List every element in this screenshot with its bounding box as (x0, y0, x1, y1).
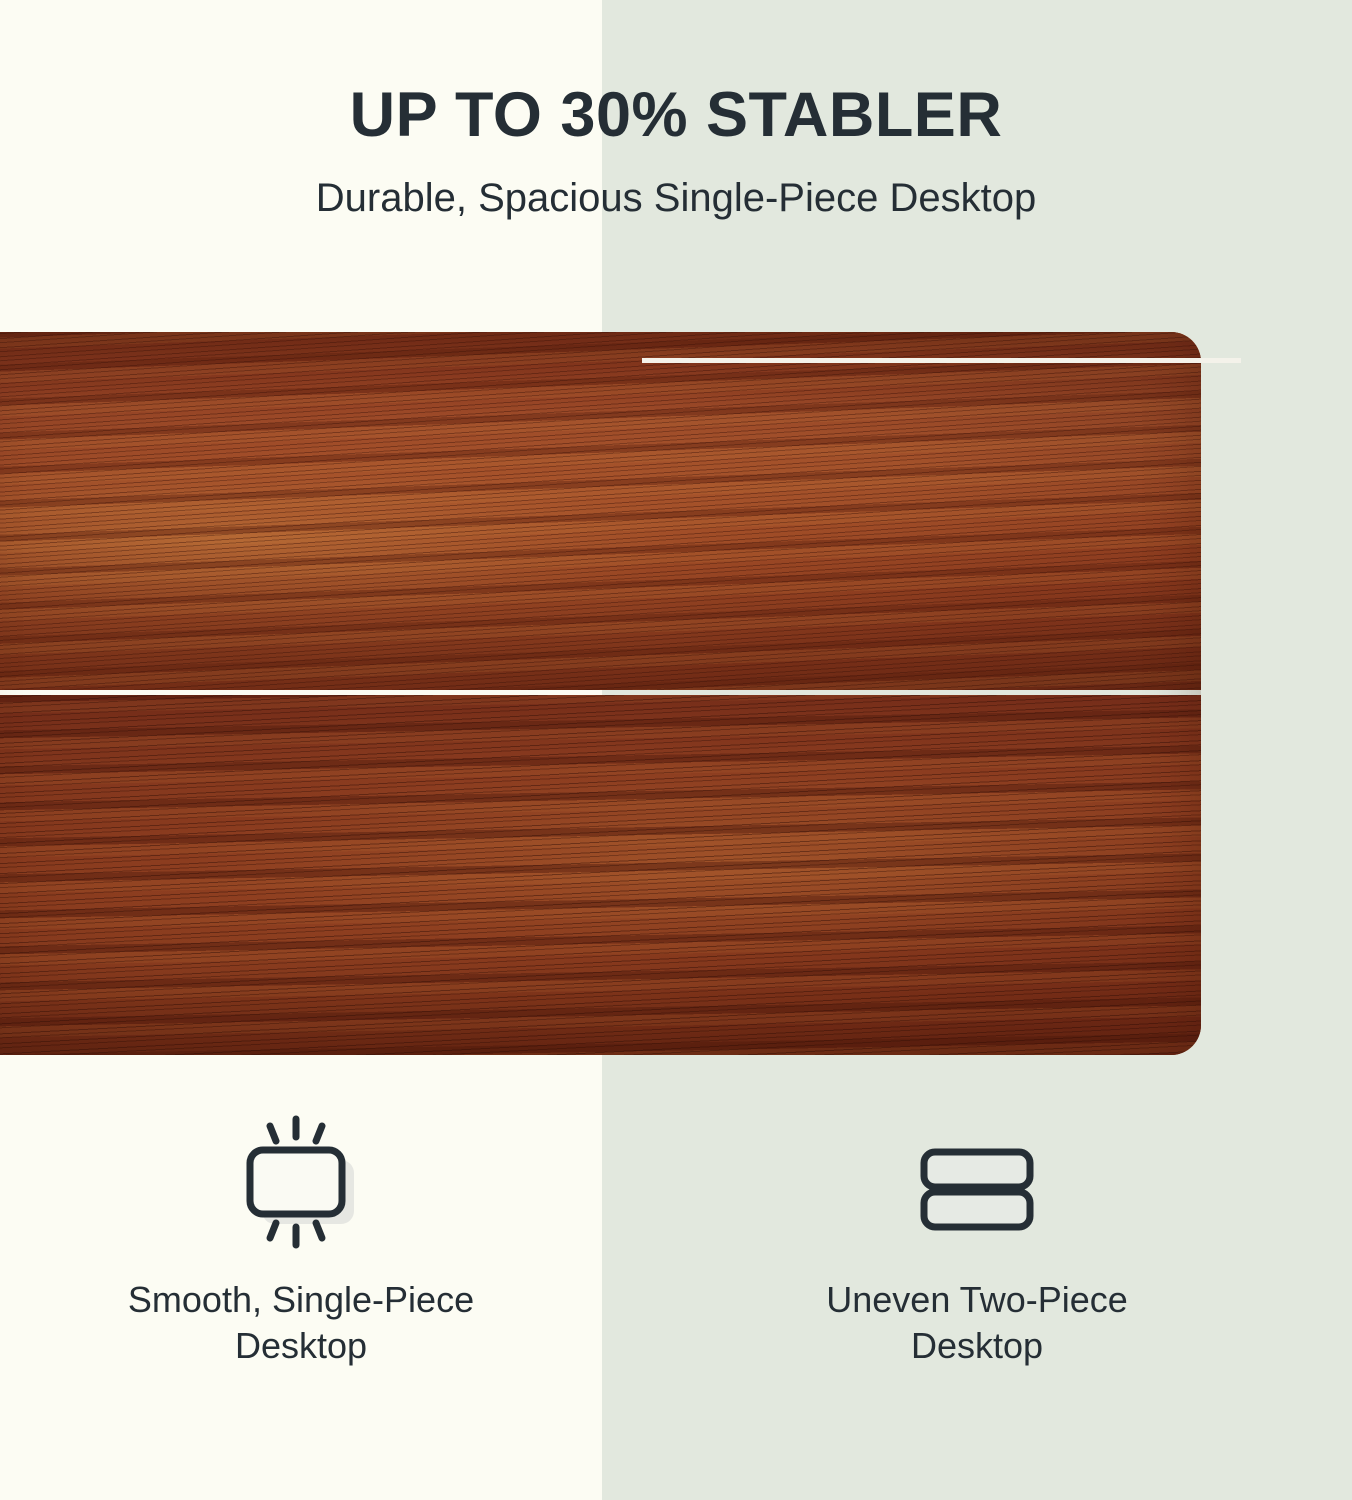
single-piece-desktop-icon (226, 1110, 376, 1260)
desktop-surface-upper (0, 332, 1201, 690)
page-title: UP TO 30% STABLER (0, 84, 1352, 147)
single-piece-caption-line-1: Smooth, Single-Piece (128, 1277, 474, 1323)
comparison-row: Smooth, Single-Piece Desktop Uneven Two-… (0, 1105, 1352, 1435)
single-piece-caption: Smooth, Single-Piece Desktop (128, 1277, 474, 1369)
desktop-product-image (0, 332, 1201, 1055)
headline-block: UP TO 30% STABLER Durable, Spacious Sing… (0, 0, 1352, 222)
two-piece-icon-slot (902, 1105, 1052, 1265)
two-piece-caption: Uneven Two-Piece Desktop (826, 1277, 1128, 1369)
page-subtitle: Durable, Spacious Single-Piece Desktop (0, 174, 1352, 222)
single-piece-icon-slot (226, 1105, 376, 1265)
two-piece-caption-line-1: Uneven Two-Piece (826, 1277, 1128, 1323)
comparison-column-two-piece: Uneven Two-Piece Desktop (602, 1105, 1352, 1435)
comparison-column-single-piece: Smooth, Single-Piece Desktop (0, 1105, 602, 1435)
single-piece-caption-line-2: Desktop (128, 1323, 474, 1369)
two-piece-seam-line (642, 358, 1241, 363)
infographic-root: UP TO 30% STABLER Durable, Spacious Sing… (0, 0, 1352, 1500)
desktop-surface-lower (0, 695, 1201, 1055)
two-piece-caption-line-2: Desktop (826, 1323, 1128, 1369)
two-piece-desktop-icon (902, 1110, 1052, 1260)
